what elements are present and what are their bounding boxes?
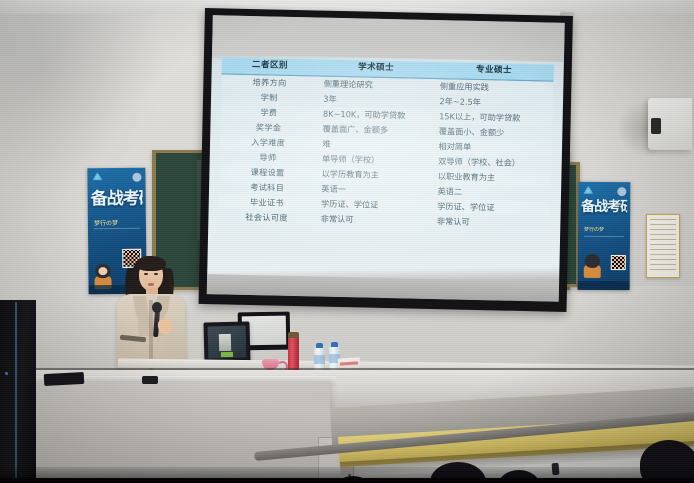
cell-professional: 非常认可 <box>431 213 551 231</box>
screen-top-band <box>212 15 565 62</box>
podium-equipment-small <box>142 376 158 384</box>
poster-right: 备战考研 梦行の梦 <box>578 182 631 290</box>
poster-badge-icon <box>132 173 141 182</box>
slide-content: 二者区别 学术硕士 专业硕士 培养方向侧重理论研究侧重应用实践学制3年2年~2.… <box>218 57 554 231</box>
row-label: 社会认可度 <box>218 209 315 226</box>
poster-divider <box>584 236 624 237</box>
monitor-status-strip <box>221 352 233 357</box>
notice-text-lines <box>650 219 676 274</box>
red-thermos-bottle <box>288 336 299 371</box>
presenter-fringe <box>136 256 166 271</box>
presenter-eye-right <box>154 273 158 275</box>
poster-right-subtitle: 梦行の梦 <box>584 226 626 233</box>
water-bottle-1-cap <box>316 343 323 348</box>
mascot-head-icon <box>585 254 600 268</box>
table-body: 培养方向侧重理论研究侧重应用实践学制3年2年~2.5年学费8K~10K，可助学贷… <box>218 74 553 232</box>
poster-left-subtitle: 梦行の梦 <box>94 218 142 228</box>
poster-badge-icon <box>617 187 626 196</box>
water-bottle-1-label <box>314 355 325 364</box>
cell-academic: 非常认可 <box>315 211 431 229</box>
mascot-face-icon <box>98 267 107 275</box>
floor-speaker-cabinet <box>0 300 36 483</box>
podium-equipment-dark <box>44 372 85 386</box>
wall-notice-board <box>646 214 680 278</box>
microphone-icon <box>152 302 162 313</box>
cabinet-led-icon <box>5 372 8 375</box>
projection-surface: 二者区别 学术硕士 专业硕士 培养方向侧重理论研究侧重应用实践学制3年2年~2.… <box>207 15 565 302</box>
sailboat-icon <box>583 186 593 196</box>
thermos-cap <box>288 332 299 338</box>
lecture-hall-photo: 备战考研 梦行の梦 备战考研 梦行の梦 <box>0 0 694 483</box>
bottom-black-bar <box>0 478 694 483</box>
poster-right-title: 备战考研 <box>581 196 627 226</box>
projection-screen: 二者区别 学术硕士 专业硕士 培养方向侧重理论研究侧重应用实践学制3年2年~2.… <box>199 8 573 312</box>
poster-left-title: 备战考研 <box>91 184 143 215</box>
comparison-table: 二者区别 学术硕士 专业硕士 培养方向侧重理论研究侧重应用实践学制3年2年~2.… <box>218 57 554 231</box>
presenter-eye-left <box>144 273 148 275</box>
water-bottle-2-cap <box>331 342 338 347</box>
ac-vent-icon <box>651 118 661 134</box>
qr-code-icon <box>611 255 626 270</box>
sailboat-icon <box>92 172 102 182</box>
screen-bottom-band <box>207 275 559 302</box>
poster-divider <box>94 228 140 229</box>
cabinet-light-strip <box>15 302 17 480</box>
monitor-image-area <box>219 334 231 351</box>
presenter-mouth <box>148 283 154 286</box>
poster-right-footer <box>578 281 630 290</box>
